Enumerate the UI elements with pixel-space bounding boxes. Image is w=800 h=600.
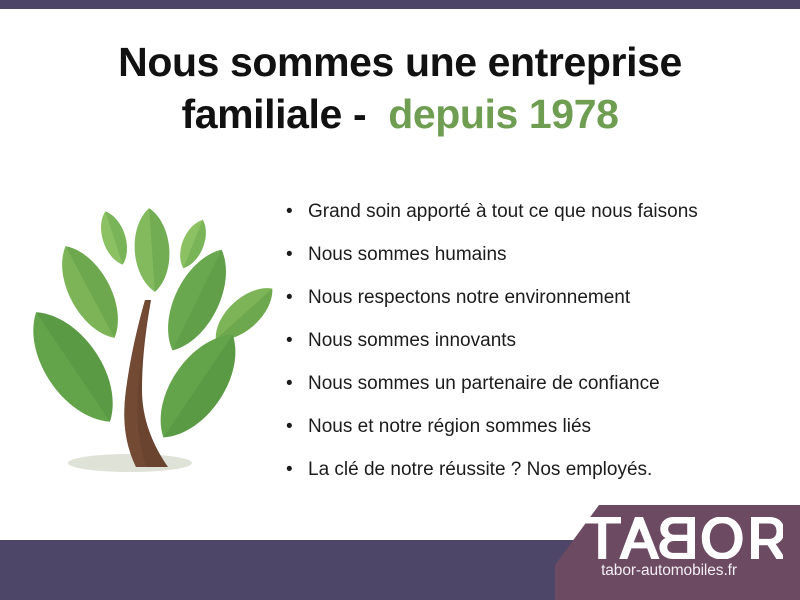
bullet-list: • Grand soin apporté à tout ce que nous … [286,190,786,491]
page-title: Nous sommes une entreprise familiale - d… [0,36,800,140]
bullet-marker-icon: • [286,276,308,319]
bullet-marker-icon: • [286,319,308,362]
bullet-marker-icon: • [286,405,308,448]
bullet-marker-icon: • [286,448,308,491]
page-title-line-1: Nous sommes une entreprise [0,36,800,88]
logo-website-url[interactable]: tabor-automobiles.fr [555,562,783,580]
list-item-label: Nous sommes humains [308,233,507,276]
brand-logo-panel[interactable]: tabor-automobiles.fr [555,505,800,600]
list-item: • Nous sommes innovants [286,319,786,362]
leaf [132,207,172,293]
page-title-line-2-prefix: familiale - [181,91,388,137]
list-item-label: La clé de notre réussite ? Nos employés. [308,448,652,491]
list-item: • La clé de notre réussite ? Nos employé… [286,448,786,491]
leaf [142,320,254,451]
list-item: • Nous respectons notre environnement [286,276,786,319]
list-item-label: Grand soin apporté à tout ce que nous fa… [308,190,698,233]
tree-illustration [18,182,274,484]
ground-shadow [68,454,192,472]
list-item-label: Nous respectons notre environnement [308,276,630,319]
bullet-marker-icon: • [286,233,308,276]
bullet-marker-icon: • [286,362,308,405]
leaf [95,208,134,268]
list-item-label: Nous sommes un partenaire de confiance [308,362,660,405]
top-accent-bar [0,0,800,9]
list-item-label: Nous et notre région sommes liés [308,405,591,448]
list-item: • Grand soin apporté à tout ce que nous … [286,190,786,233]
list-item-label: Nous sommes innovants [308,319,516,362]
list-item: • Nous sommes un partenaire de confiance [286,362,786,405]
page-title-accent: depuis 1978 [388,91,618,137]
slide-canvas: Nous sommes une entreprise familiale - d… [0,0,800,600]
logo-content: tabor-automobiles.fr [555,505,800,600]
tabor-wordmark-logo [583,517,783,559]
list-item: • Nous et notre région sommes liés [286,405,786,448]
bullet-marker-icon: • [286,190,308,233]
list-item: • Nous sommes humains [286,233,786,276]
page-title-line-2: familiale - depuis 1978 [0,88,800,140]
